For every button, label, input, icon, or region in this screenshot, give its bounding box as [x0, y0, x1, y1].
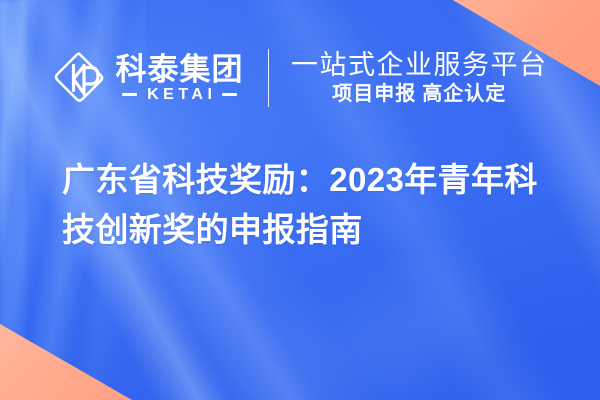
slogan-sub-text: 项目申报 高企认定: [291, 84, 548, 104]
ketai-logo-icon: [53, 50, 105, 106]
banner-header: 科泰集团 KETAI 一站式企业服务平台 项目申报 高企认定: [0, 40, 600, 116]
brand-name-en-row: KETAI: [122, 87, 238, 103]
slogan-main-text: 一站式企业服务平台: [291, 52, 548, 79]
brand-wordmark: 科泰集团 KETAI: [116, 54, 244, 103]
brand-name-cn: 科泰集团: [116, 54, 244, 85]
slogan-block: 一站式企业服务平台 项目申报 高企认定: [291, 52, 548, 104]
brand-lockup[interactable]: 科泰集团 KETAI: [53, 50, 244, 106]
header-divider: [268, 49, 270, 107]
brand-name-en: KETAI: [143, 87, 217, 103]
dash-left-icon: [122, 93, 137, 96]
banner-headline: 广东省科技奖励：2023年青年科技创新奖的申报指南: [62, 155, 562, 255]
promo-banner: 科泰集团 KETAI 一站式企业服务平台 项目申报 高企认定 广东省科技奖励：2…: [0, 0, 600, 400]
dash-right-icon: [222, 93, 237, 96]
